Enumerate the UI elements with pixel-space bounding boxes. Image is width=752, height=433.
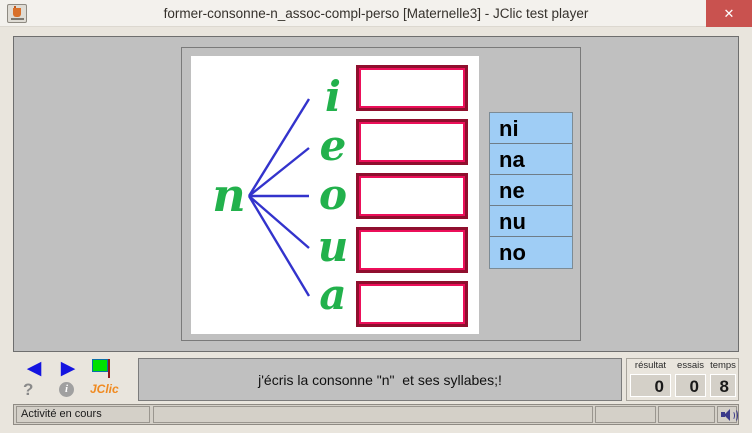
board-container: n i e o u a <box>181 47 581 341</box>
status-extra-cell-2 <box>658 406 715 423</box>
flag-icon[interactable] <box>92 359 112 378</box>
answer-box-5[interactable] <box>356 281 468 327</box>
window-title: former-consonne-n_assoc-compl-perso [Mat… <box>0 0 752 27</box>
vowel-letter-e[interactable]: e <box>311 125 355 167</box>
close-button[interactable]: ✕ <box>706 0 752 27</box>
counter-time-value: 8 <box>710 374 736 397</box>
syllable-list: ni na ne nu no <box>489 112 573 269</box>
navigation-icons: ◀ ▶ ? i JClic <box>13 357 125 402</box>
counter-attempts: essais 0 <box>673 359 708 400</box>
flag-cloth <box>92 359 108 372</box>
answer-box-1[interactable] <box>356 65 468 111</box>
previous-arrow-icon[interactable]: ◀ <box>25 359 43 378</box>
activity-panel: n i e o u a <box>13 36 739 352</box>
answer-box-5-field[interactable] <box>359 284 465 324</box>
answer-box-2[interactable] <box>356 119 468 165</box>
vowel-letter-o[interactable]: o <box>311 174 355 216</box>
counters-panel: résultat 0 essais 0 temps 8 <box>626 358 739 401</box>
window-body: n i e o u a <box>0 27 752 433</box>
title-bar: former-consonne-n_assoc-compl-perso [Mat… <box>0 0 752 27</box>
syllable-cell-na[interactable]: na <box>490 144 572 175</box>
answer-box-3-field[interactable] <box>359 176 465 216</box>
counter-result-label: résultat <box>628 359 673 373</box>
next-arrow-icon[interactable]: ▶ <box>59 359 77 378</box>
vowel-letter-i[interactable]: i <box>311 76 355 118</box>
syllable-cell-no[interactable]: no <box>490 237 572 268</box>
syllable-cell-nu[interactable]: nu <box>490 206 572 237</box>
vowel-letter-a[interactable]: a <box>311 274 355 316</box>
syllable-cell-ni[interactable]: ni <box>490 113 572 144</box>
help-icon[interactable]: ? <box>23 381 41 399</box>
speaker-wave-2 <box>732 409 738 422</box>
counter-result: résultat 0 <box>628 359 673 400</box>
status-activity-text: Activité en cours <box>16 406 150 423</box>
counter-attempts-value: 0 <box>675 374 706 397</box>
consonant-letter[interactable]: n <box>201 172 257 218</box>
counter-attempts-label: essais <box>673 359 708 373</box>
counter-time-label: temps <box>708 359 738 373</box>
counter-time: temps 8 <box>708 359 738 400</box>
status-progress-bar <box>153 406 593 423</box>
syllable-cell-ne[interactable]: ne <box>490 175 572 206</box>
answer-box-4[interactable] <box>356 227 468 273</box>
status-bar: Activité en cours <box>13 404 739 425</box>
answer-box-2-field[interactable] <box>359 122 465 162</box>
answer-box-3[interactable] <box>356 173 468 219</box>
bottom-toolbar: ◀ ▶ ? i JClic j'écris la consonne "n" et… <box>13 357 739 402</box>
answer-box-4-field[interactable] <box>359 230 465 270</box>
vowel-letter-u[interactable]: u <box>311 226 355 268</box>
info-icon[interactable]: i <box>59 382 74 397</box>
jclic-test-player-window: former-consonne-n_assoc-compl-perso [Mat… <box>0 0 752 433</box>
flag-pole <box>108 359 110 378</box>
answer-box-1-field[interactable] <box>359 68 465 108</box>
counter-result-value: 0 <box>630 374 671 397</box>
status-extra-cell-1 <box>595 406 656 423</box>
speaker-icon[interactable] <box>717 406 737 423</box>
jclic-logo[interactable]: JClic <box>90 382 119 396</box>
play-board: n i e o u a <box>191 56 479 334</box>
message-panel: j'écris la consonne "n" et ses syllabes;… <box>138 358 622 401</box>
